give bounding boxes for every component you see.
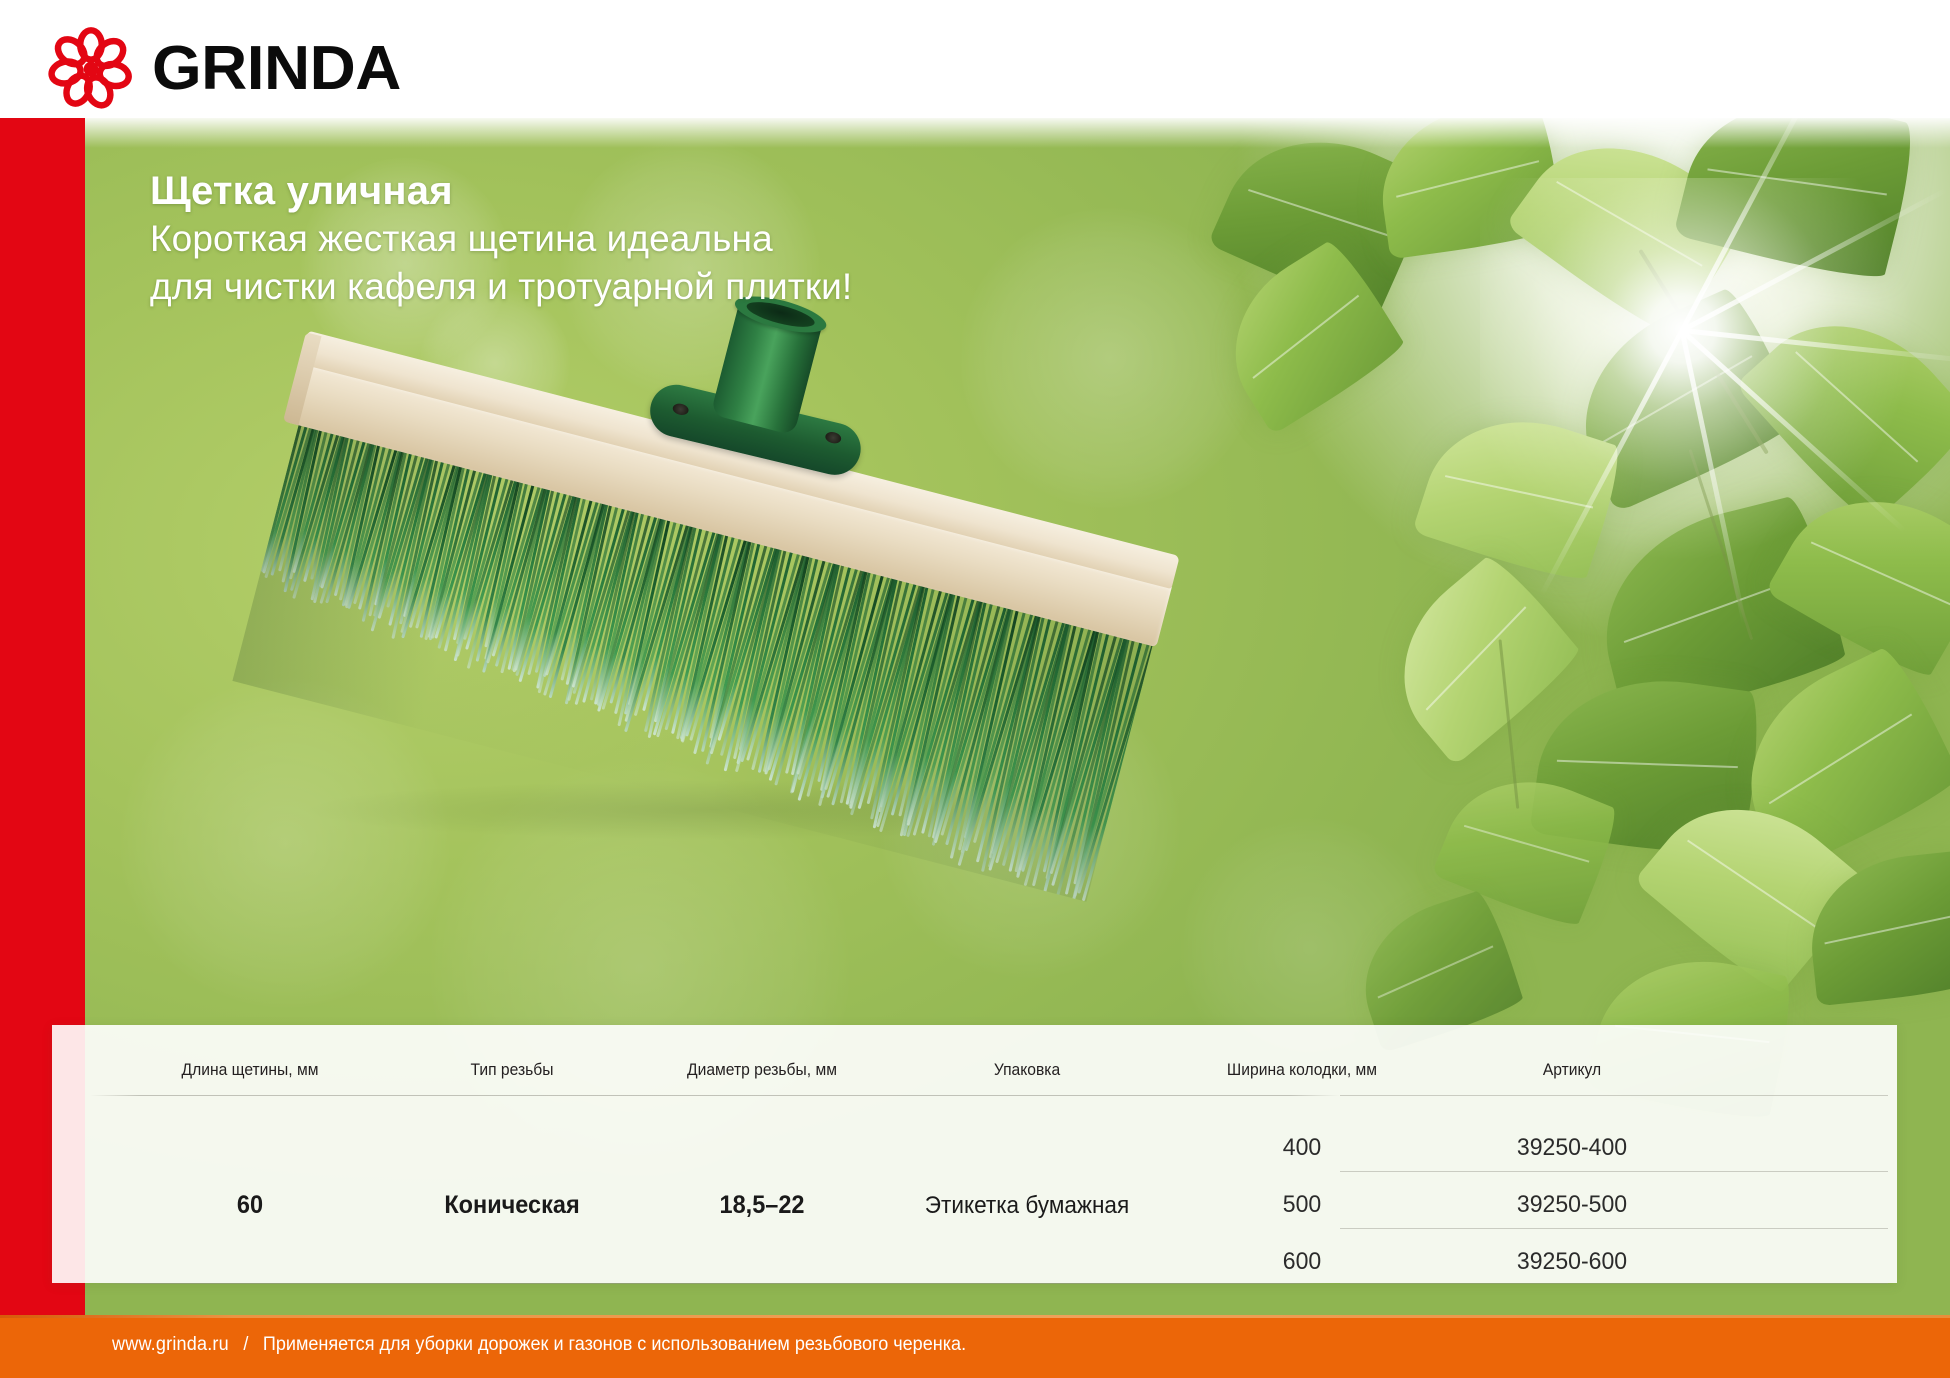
page-header: GRINDA (0, 0, 1950, 118)
column-header-thread-diameter: Диаметр резьбы, мм (624, 1060, 900, 1080)
value-packaging: Этикетка бумажная (891, 1192, 1164, 1220)
value-block-width: 600 (1158, 1248, 1446, 1276)
footer-usage-note: Применяется для уборки дорожек и газонов… (263, 1334, 966, 1355)
value-block-width: 400 (1158, 1134, 1446, 1162)
product-datasheet-page: GRINDA (0, 0, 1950, 1378)
column-header-block-width: Ширина колодки, мм (1164, 1060, 1440, 1080)
subtable-bottom-divider (1340, 1283, 1888, 1284)
hero-text-block: Щетка уличная Короткая жесткая щетина ид… (150, 168, 852, 310)
footer-note: www.grinda.ru / Применяется для уборки д… (112, 1334, 966, 1356)
footer-separator: / (234, 1334, 258, 1355)
page-footer: www.grinda.ru / Применяется для уборки д… (0, 1315, 1950, 1378)
subtable-top-divider (1340, 1095, 1888, 1096)
value-thread-type: Коническая (390, 1191, 634, 1220)
value-block-width: 500 (1158, 1191, 1446, 1219)
column-header-packaging: Упаковка (894, 1060, 1161, 1080)
footer-website-link[interactable]: www.grinda.ru (112, 1334, 229, 1355)
value-article: 39250-600 (1428, 1248, 1716, 1276)
screw-icon (824, 430, 842, 444)
value-bristle-length: 60 (100, 1191, 401, 1220)
column-header-bristle-length: Длина щетины, мм (103, 1060, 397, 1080)
value-thread-diameter: 18,5–22 (621, 1191, 903, 1220)
screw-icon (672, 402, 690, 416)
brand-wordmark: GRINDA (152, 38, 401, 100)
footer-highlight-line (0, 1315, 1950, 1318)
product-title: Щетка уличная (150, 168, 852, 215)
subtable-row-divider (1340, 1171, 1888, 1172)
photo-top-fade (0, 118, 1950, 148)
product-subtitle-line-2: для чистки кафеля и тротуарной плитки! (150, 263, 852, 310)
brand-logo[interactable]: GRINDA (48, 26, 394, 112)
leaf (1735, 281, 1950, 530)
column-header-thread-type: Тип резьбы (392, 1060, 631, 1080)
grinda-flower-logo-icon (48, 26, 134, 112)
product-subtitle-line-1: Короткая жесткая щетина идеальна (150, 215, 852, 262)
value-article: 39250-500 (1428, 1191, 1716, 1219)
column-header-article: Артикул (1434, 1060, 1710, 1080)
value-article: 39250-400 (1428, 1134, 1716, 1162)
specification-panel: Длина щетины, мм Тип резьбы Диаметр резь… (52, 1025, 1897, 1283)
header-divider (90, 1095, 1340, 1096)
product-photo (230, 300, 1260, 860)
table-bottom-divider (90, 1283, 1340, 1284)
subtable-row-divider (1340, 1228, 1888, 1229)
